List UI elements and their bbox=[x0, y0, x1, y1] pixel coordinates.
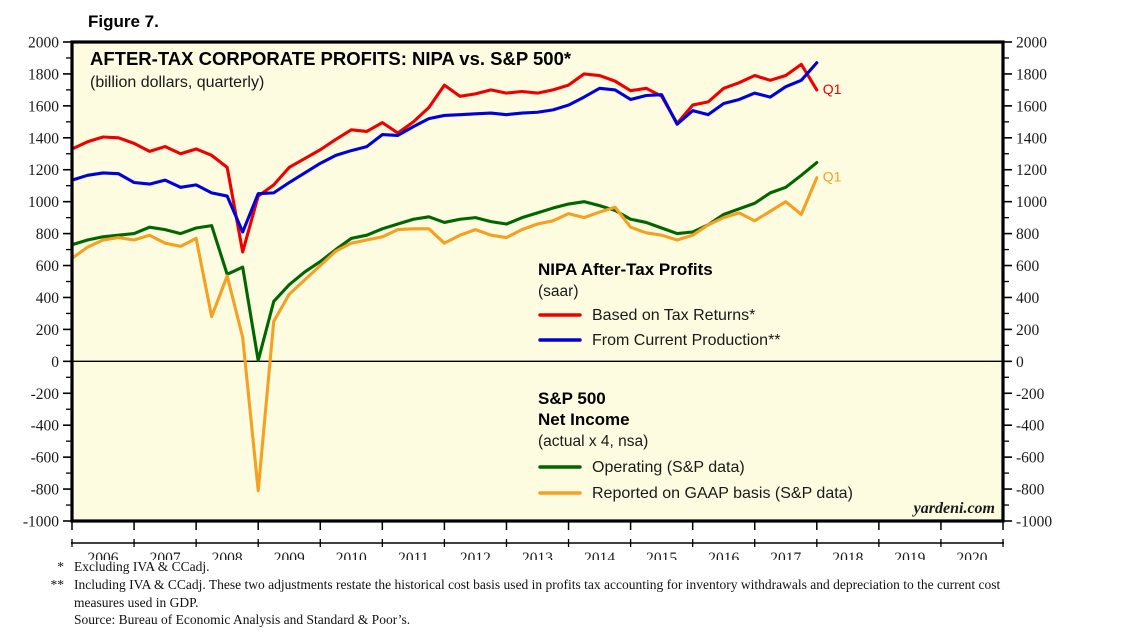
footnote-text: Including IVA & CCadj. These two adjustm… bbox=[74, 576, 1004, 612]
legend-title: Net Income bbox=[538, 410, 630, 429]
chart-container: 2000200018001800160016001400140012001200… bbox=[0, 0, 1138, 560]
y-tick-label-right: 0 bbox=[1016, 354, 1024, 371]
chart-subtitle: (billion dollars, quarterly) bbox=[90, 74, 264, 91]
legend-item-label: Based on Tax Returns* bbox=[592, 307, 755, 324]
footnote-text: Excluding IVA & CCadj. bbox=[74, 558, 1004, 576]
y-tick-label-left: 200 bbox=[36, 322, 60, 339]
y-tick-label-right: 200 bbox=[1016, 322, 1040, 339]
legend-item-label: Reported on GAAP basis (S&P data) bbox=[592, 485, 853, 502]
y-tick-label-right: -600 bbox=[1016, 450, 1045, 467]
y-tick-label-left: 0 bbox=[51, 354, 59, 371]
y-tick-label-left: 1600 bbox=[28, 98, 59, 115]
y-tick-label-left: 800 bbox=[36, 226, 60, 243]
q1-annotation: Q1 bbox=[823, 81, 842, 97]
y-tick-label-left: 1800 bbox=[28, 66, 59, 83]
legend-note: (actual x 4, nsa) bbox=[538, 433, 648, 450]
y-tick-label-right: 2000 bbox=[1016, 35, 1047, 52]
y-tick-label-left: -200 bbox=[31, 386, 60, 403]
y-tick-label-left: 1200 bbox=[28, 162, 59, 179]
y-tick-label-left: -600 bbox=[31, 450, 60, 467]
y-tick-label-right: 800 bbox=[1016, 226, 1040, 243]
footnote-row: *Excluding IVA & CCadj. bbox=[0, 558, 1138, 576]
y-tick-label-right: -200 bbox=[1016, 386, 1045, 403]
y-tick-label-right: -800 bbox=[1016, 482, 1045, 499]
y-tick-label-left: 1000 bbox=[28, 194, 59, 211]
y-tick-label-right: -1000 bbox=[1016, 514, 1052, 531]
chart-svg: 2000200018001800160016001400140012001200… bbox=[0, 0, 1138, 560]
watermark-yardeni: yardeni.com bbox=[912, 500, 995, 517]
y-tick-label-right: 1800 bbox=[1016, 66, 1047, 83]
legend-item-label: From Current Production** bbox=[592, 332, 781, 349]
footnote-marker: ** bbox=[34, 576, 74, 594]
y-tick-label-left: -400 bbox=[31, 418, 60, 435]
chart-title: AFTER-TAX CORPORATE PROFITS: NIPA vs. S&… bbox=[90, 48, 572, 69]
legend-title: S&P 500 bbox=[538, 389, 606, 408]
footnote-row: **Including IVA & CCadj. These two adjus… bbox=[0, 576, 1138, 612]
y-tick-label-left: 600 bbox=[36, 258, 60, 275]
y-tick-label-left: -1000 bbox=[23, 514, 59, 531]
y-tick-label-right: 1400 bbox=[1016, 130, 1047, 147]
legend-title: NIPA After-Tax Profits bbox=[538, 260, 713, 279]
footnote-text: Source: Bureau of Economic Analysis and … bbox=[74, 611, 1004, 629]
y-tick-label-left: 400 bbox=[36, 290, 60, 307]
y-tick-label-right: 1000 bbox=[1016, 194, 1047, 211]
y-tick-label-right: -400 bbox=[1016, 418, 1045, 435]
y-tick-label-right: 1600 bbox=[1016, 98, 1047, 115]
y-tick-label-left: 2000 bbox=[28, 35, 59, 52]
footnote-row: Source: Bureau of Economic Analysis and … bbox=[0, 611, 1138, 629]
footnote-marker: * bbox=[34, 558, 74, 576]
q1-annotation: Q1 bbox=[823, 169, 842, 185]
y-tick-label-left: 1400 bbox=[28, 130, 59, 147]
legend-note: (saar) bbox=[538, 283, 578, 300]
y-tick-label-right: 1200 bbox=[1016, 162, 1047, 179]
footnotes-block: *Excluding IVA & CCadj.**Including IVA &… bbox=[0, 558, 1138, 629]
legend-item-label: Operating (S&P data) bbox=[592, 459, 745, 476]
y-tick-label-left: -800 bbox=[31, 482, 60, 499]
y-tick-label-right: 400 bbox=[1016, 290, 1040, 307]
x-axis: 2006200720082009201020112012201320142015… bbox=[71, 521, 1004, 560]
y-tick-label-right: 600 bbox=[1016, 258, 1040, 275]
